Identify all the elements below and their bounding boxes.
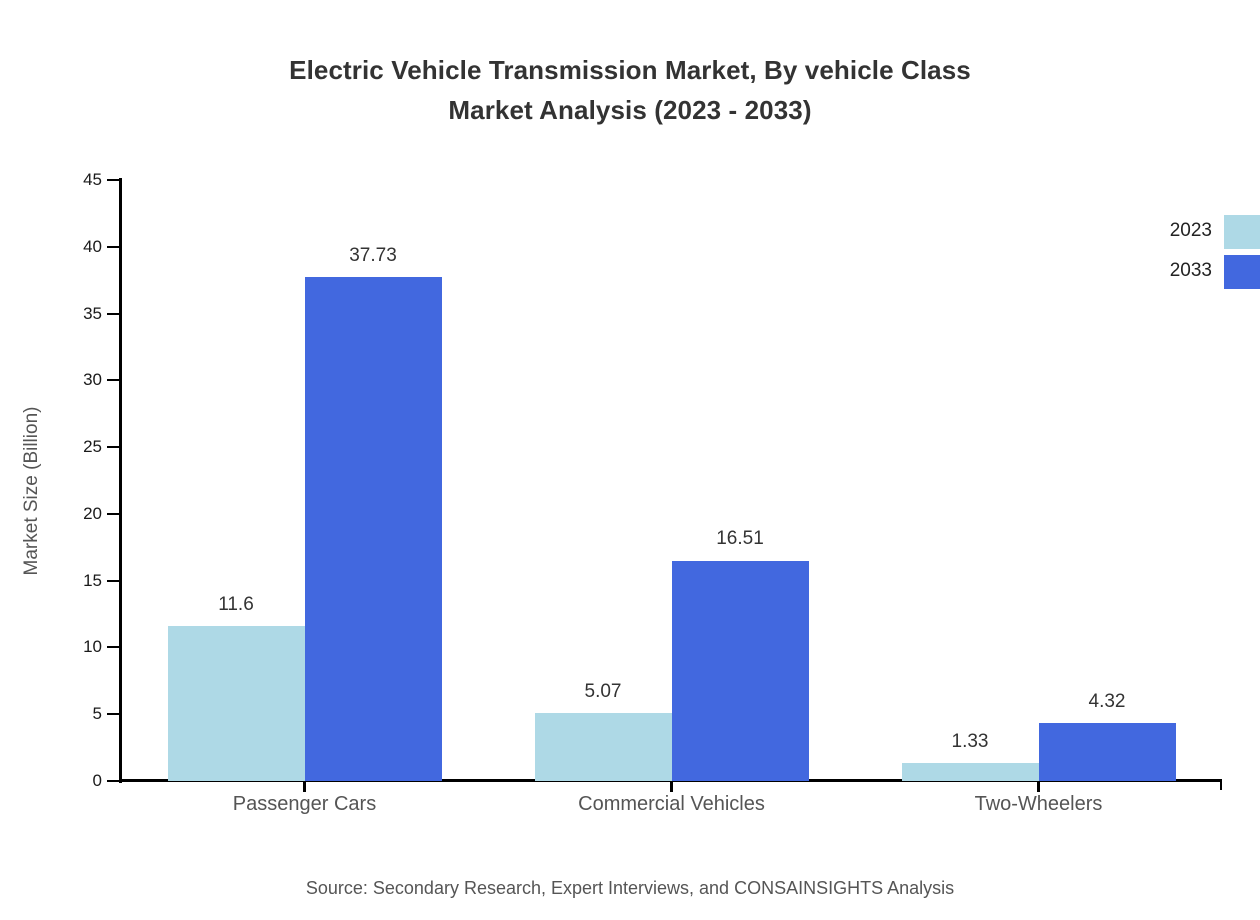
- bar-2033-passenger-cars[interactable]: [305, 277, 442, 781]
- legend-label: 2033: [1118, 260, 1212, 282]
- legend-item-2033[interactable]: 2033: [1118, 255, 1260, 289]
- bar-2023-commercial-vehicles[interactable]: [535, 713, 672, 781]
- bars-layer: [121, 180, 1222, 781]
- y-axis-tick-label: 10: [60, 638, 102, 655]
- y-axis-tick: [107, 446, 119, 448]
- y-axis-tick: [107, 646, 119, 648]
- y-axis-tick: [107, 246, 119, 248]
- bar-2033-commercial-vehicles[interactable]: [672, 561, 809, 782]
- x-axis-tick: [1037, 781, 1040, 792]
- legend-swatch: [1224, 255, 1260, 289]
- bar-value-label: 11.6: [218, 594, 254, 616]
- bar-2033-two-wheelers[interactable]: [1039, 723, 1176, 781]
- legend-item-2023[interactable]: 2023: [1118, 215, 1260, 249]
- bar-value-label: 37.73: [349, 245, 397, 267]
- y-axis-tick-label: 25: [60, 438, 102, 455]
- y-axis-tick-label: 35: [60, 305, 102, 322]
- bar-2023-passenger-cars[interactable]: [168, 626, 305, 781]
- legend-label: 2023: [1118, 220, 1212, 242]
- chart-title-line-2: Market Analysis (2023 - 2033): [0, 90, 1260, 130]
- bar-value-label: 1.33: [952, 731, 989, 753]
- bar-2023-two-wheelers[interactable]: [902, 763, 1039, 781]
- y-axis-title: Market Size (Billion): [21, 231, 43, 751]
- y-axis-tick: [107, 580, 119, 582]
- y-axis-tick-label: 15: [60, 572, 102, 589]
- y-axis-tick: [107, 713, 119, 715]
- y-axis-tick-label: 30: [60, 371, 102, 388]
- bar-value-label: 4.32: [1089, 691, 1126, 713]
- y-axis-tick: [107, 313, 119, 315]
- y-axis-tick: [107, 780, 119, 782]
- legend: 20232033: [1118, 215, 1260, 310]
- x-axis-category-label: Two-Wheelers: [975, 793, 1103, 816]
- y-axis-tick: [107, 379, 119, 381]
- y-axis-tick-label: 5: [60, 705, 102, 722]
- y-axis-tick-label: 20: [60, 505, 102, 522]
- x-axis-tick: [303, 781, 306, 792]
- legend-swatch: [1224, 215, 1260, 249]
- chart-canvas: Electric Vehicle Transmission Market, By…: [0, 0, 1260, 920]
- source-note: Source: Secondary Research, Expert Inter…: [0, 878, 1260, 899]
- y-axis-tick: [107, 179, 119, 181]
- y-axis-tick-label: 0: [60, 772, 102, 789]
- x-axis-category-label: Passenger Cars: [233, 793, 376, 816]
- bar-value-label: 16.51: [716, 528, 764, 550]
- x-axis-category-label: Commercial Vehicles: [578, 793, 765, 816]
- y-axis-tick: [107, 513, 119, 515]
- y-axis-tick-label: 40: [60, 238, 102, 255]
- x-axis-tick: [670, 781, 673, 792]
- bar-value-label: 5.07: [585, 681, 622, 703]
- y-axis-tick-label: 45: [60, 171, 102, 188]
- chart-title-line-1: Electric Vehicle Transmission Market, By…: [289, 55, 971, 85]
- chart-title: Electric Vehicle Transmission Market, By…: [0, 50, 1260, 130]
